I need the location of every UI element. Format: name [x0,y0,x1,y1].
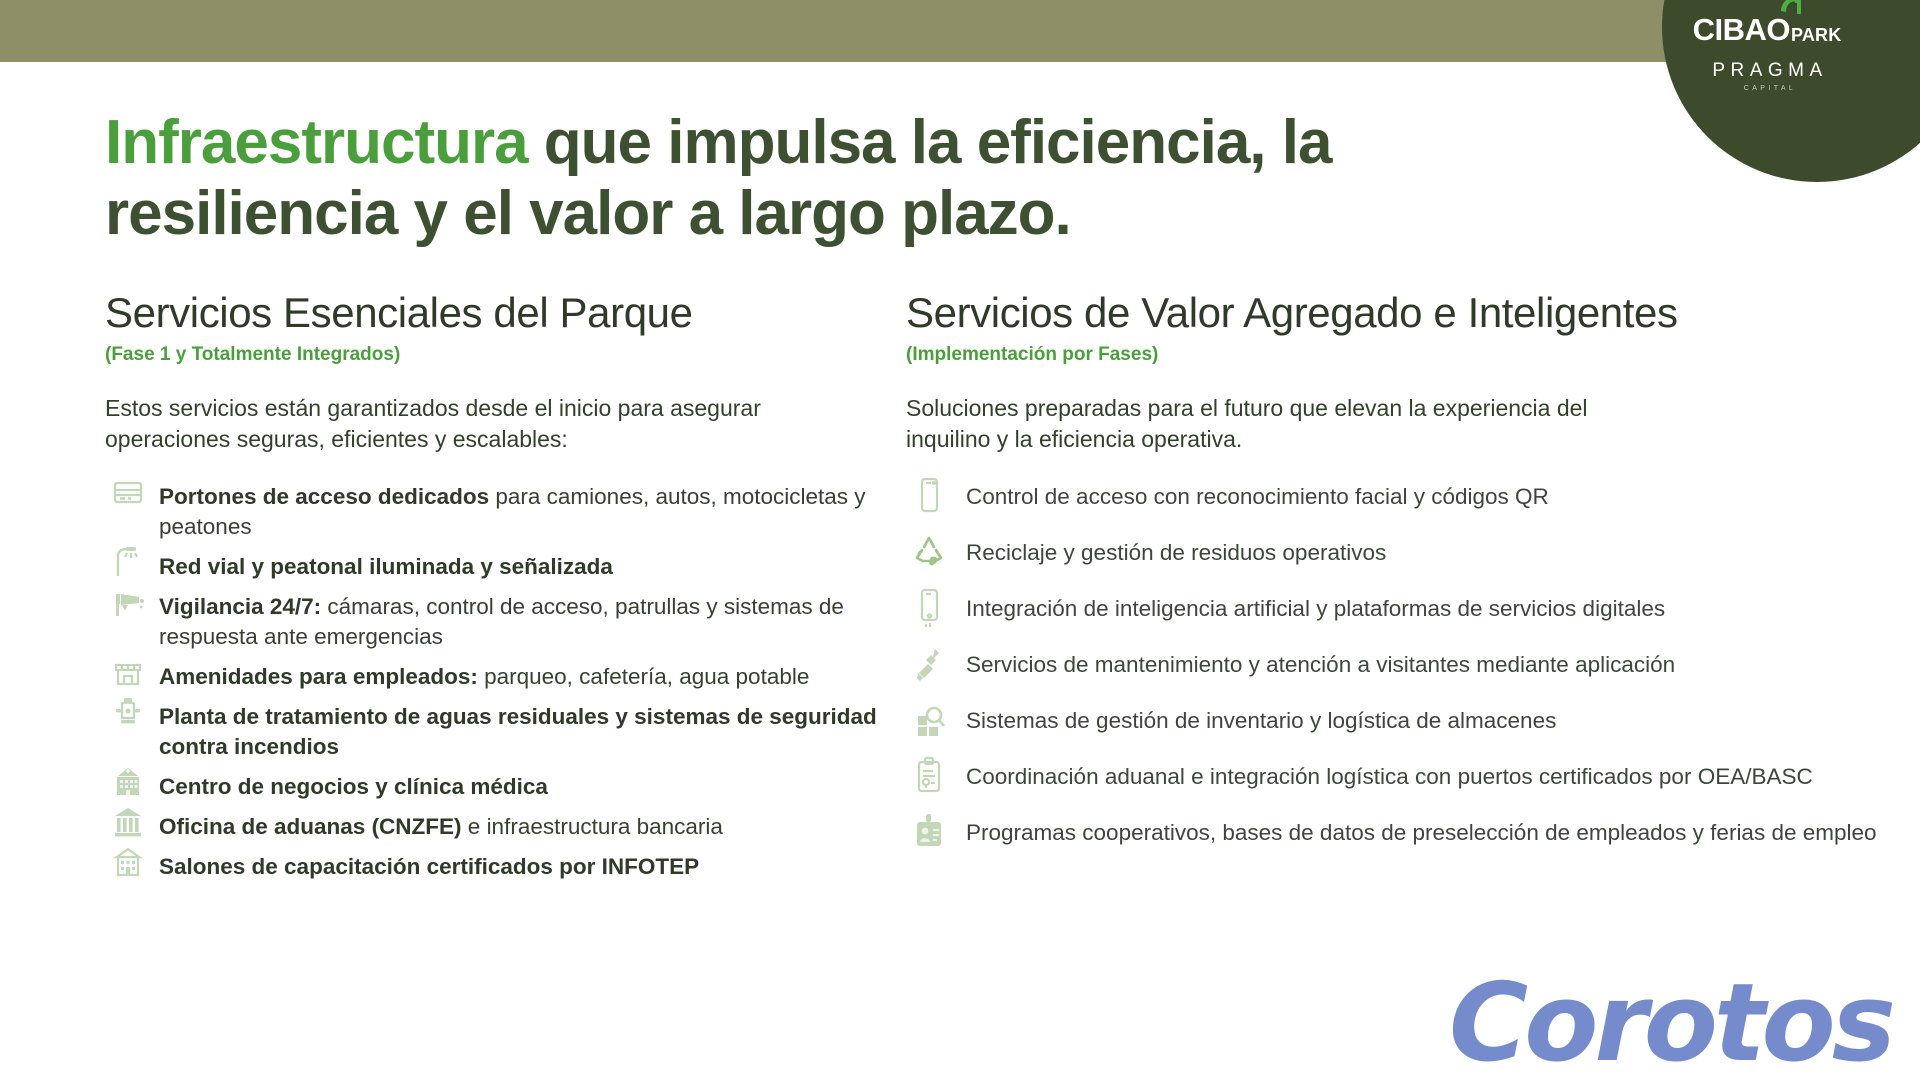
list-item: Programas cooperativos, bases de datos d… [906,812,1880,854]
list-item-text: Programas cooperativos, bases de datos d… [966,812,1877,848]
list-item-text: Red vial y peatonal iluminada y señaliza… [159,546,613,582]
list-item-text: Portones de acceso dedicados para camion… [159,476,885,542]
list-item-bold: Salones de capacitación certificados por… [159,854,699,879]
list-item: Oficina de aduanas (CNZFE) e infraestruc… [105,806,885,842]
right-column-intro: Soluciones preparadas para el futuro que… [906,393,1606,454]
list-item-bold: Portones de acceso dedicados [159,484,489,509]
wrench-screwdriver-icon [906,642,952,686]
list-item: Vigilancia 24/7: cámaras, control de acc… [105,586,885,652]
left-column-intro: Estos servicios están garantizados desde… [105,393,805,454]
smartphone-scan-icon [906,474,952,518]
list-item: Servicios de mantenimiento y atención a … [906,644,1880,686]
left-column-title: Servicios Esenciales del Parque [105,290,885,336]
list-item-bold: Oficina de aduanas (CNZFE) [159,814,462,839]
classical-bank-icon [105,802,151,842]
street-lamp-icon [105,542,151,582]
left-column-subtitle: (Fase 1 y Totalmente Integrados) [105,344,885,367]
fire-hydrant-icon [105,692,151,732]
inventory-search-icon [906,698,952,742]
list-item-text: Sistemas de gestión de inventario y logí… [966,700,1556,736]
list-item: Amenidades para empleados: parqueo, cafe… [105,656,885,692]
list-item-bold: Centro de negocios y clínica médica [159,774,548,799]
brand-name-primary: CIBAO [1693,14,1790,45]
list-item-bold: Planta de tratamiento de aguas residuale… [159,704,877,759]
list-item: Coordinación aduanal e integración logís… [906,756,1880,798]
list-item-text: Centro de negocios y clínica médica [159,766,548,802]
brand-sub-tagline: CAPITAL [1744,85,1796,92]
list-item-text: Planta de tratamiento de aguas residuale… [159,696,885,762]
school-building-icon [105,842,151,882]
storefront-canopy-icon [105,652,151,692]
corotos-watermark: Corotos [1449,970,1892,1078]
security-camera-icon [105,582,151,622]
list-item-text: Reciclaje y gestión de residuos operativ… [966,532,1386,568]
column-essential-services: Servicios Esenciales del Parque (Fase 1 … [0,290,905,886]
smartphone-ai-icon [906,586,952,630]
brand-wordmark-row: CIBAO PARK [1693,14,1848,45]
list-item: Centro de negocios y clínica médica [105,766,885,802]
list-item-rest: e infraestructura bancaria [462,814,723,839]
list-item-text: Salones de capacitación certificados por… [159,846,699,882]
page-title: Infraestructura que impulsa la eficienci… [105,108,1425,249]
cibao-leaf-mark-icon [1777,0,1803,17]
gate-barrier-icon [105,472,151,512]
content-columns: Servicios Esenciales del Parque (Fase 1 … [0,290,1920,886]
list-item: Sistemas de gestión de inventario y logí… [906,700,1880,742]
page-title-accent: Infraestructura [105,108,528,177]
left-items-list: Portones de acceso dedicados para camion… [105,476,885,882]
list-item-text: Oficina de aduanas (CNZFE) e infraestruc… [159,806,723,842]
list-item: Planta de tratamiento de aguas residuale… [105,696,885,762]
list-item: Portones de acceso dedicados para camion… [105,476,885,542]
brand-logo-group: CIBAO PARK PRAGMA CAPITAL [1620,0,1920,140]
recycling-leaf-icon [906,530,952,574]
clipboard-customs-icon [906,754,952,798]
list-item-text: Control de acceso con reconocimiento fac… [966,476,1549,512]
list-item: Integración de inteligencia artificial y… [906,588,1880,630]
brand-sub-group: PRAGMA CAPITAL [1712,61,1827,92]
hospital-building-icon [105,762,151,802]
list-item: Salones de capacitación certificados por… [105,846,885,882]
list-item-text: Coordinación aduanal e integración logís… [966,756,1813,792]
list-item-text: Servicios de mantenimiento y atención a … [966,644,1675,680]
list-item: Reciclaje y gestión de residuos operativ… [906,532,1880,574]
list-item-rest: parqueo, cafetería, agua potable [478,664,810,689]
list-item: Red vial y peatonal iluminada y señaliza… [105,546,885,582]
id-badge-icon [906,810,952,854]
column-value-added-services: Servicios de Valor Agregado e Inteligent… [905,290,1920,886]
brand-name-secondary: PARK [1791,26,1841,45]
right-column-title: Servicios de Valor Agregado e Inteligent… [906,290,1880,336]
list-item-text: Integración de inteligencia artificial y… [966,588,1665,624]
right-items-list: Control de acceso con reconocimiento fac… [906,476,1880,854]
list-item: Control de acceso con reconocimiento fac… [906,476,1880,518]
list-item-text: Vigilancia 24/7: cámaras, control de acc… [159,586,885,652]
list-item-bold: Amenidades para empleados: [159,664,478,689]
right-column-subtitle: (Implementación por Fases) [906,344,1880,367]
slide-root: CIBAO PARK PRAGMA CAPITAL Infraestructur… [0,0,1920,1080]
brand-sub-name: PRAGMA [1712,61,1827,80]
list-item-bold: Red vial y peatonal iluminada y señaliza… [159,554,613,579]
list-item-text: Amenidades para empleados: parqueo, cafe… [159,656,809,692]
list-item-bold: Vigilancia 24/7: [159,594,321,619]
